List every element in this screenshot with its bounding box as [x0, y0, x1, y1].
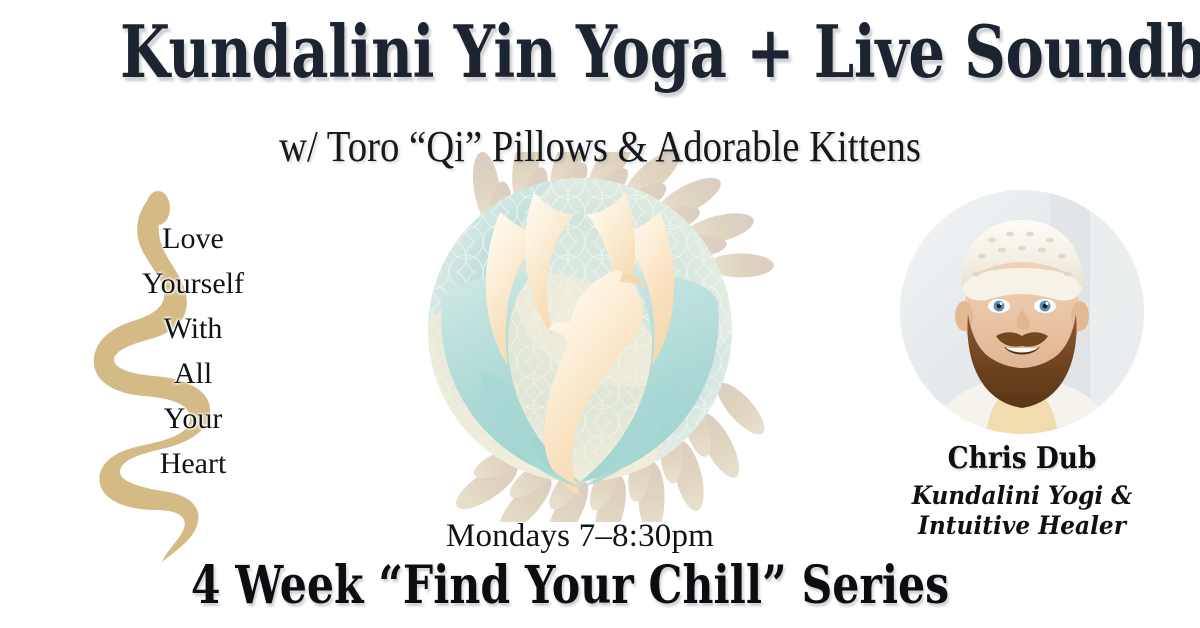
mantra-text: Love Yourself With All Your Heart [78, 216, 308, 486]
mantra-line-4: All [78, 351, 308, 396]
page-subtitle: w/ Toro “Qi” Pillows & Adorable Kittens [72, 124, 1128, 170]
snake-mantra-block: Love Yourself With All Your Heart [78, 188, 308, 568]
mantra-line-1: Love [78, 216, 308, 261]
schedule-time: Mondays 7–8:30pm [300, 518, 860, 555]
mantra-line-6: Heart [78, 441, 308, 486]
mantra-line-3: With [78, 306, 308, 351]
phoenix-laurel-mandala-icon [330, 152, 830, 522]
presenter-block: Chris Dub Kundalini Yogi & Intuitive Hea… [898, 190, 1146, 540]
presenter-role-line-2: Intuitive Healer [907, 511, 1138, 541]
flyer-canvas: Kundalini Yin Yoga + Live Soundbath w/ T… [0, 0, 1200, 628]
presenter-portrait-icon [900, 190, 1144, 434]
page-title: Kundalini Yin Yoga + Live Soundbath [120, 16, 1080, 88]
mantra-line-2: Yourself [78, 261, 308, 306]
presenter-name: Chris Dub [913, 444, 1131, 474]
presenter-role: Kundalini Yogi & Intuitive Healer [907, 481, 1138, 540]
avatar [900, 190, 1144, 434]
mantra-line-5: Your [78, 396, 308, 441]
series-headline: 4 Week “Find Your Chill” Series [152, 560, 988, 612]
presenter-role-line-1: Kundalini Yogi & [907, 481, 1138, 511]
